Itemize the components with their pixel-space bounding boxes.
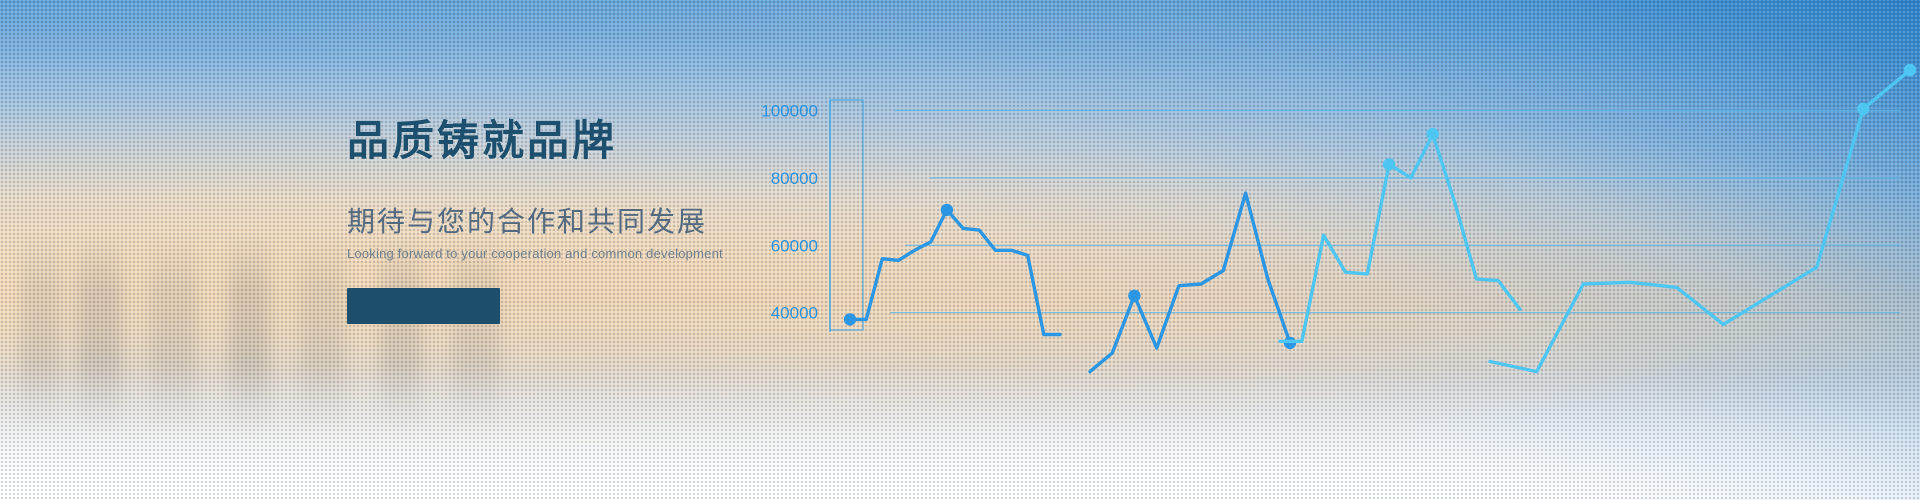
chart-line-series-3: [1280, 134, 1520, 341]
chart-data-point: [1427, 128, 1439, 140]
chart-data-point: [1904, 64, 1916, 76]
chart-line-series-4: [1490, 70, 1910, 372]
banner-line-chart: 400006000080000100000: [760, 60, 1920, 380]
chart-data-point: [941, 204, 953, 216]
chart-data-point: [844, 313, 856, 325]
chart-line-series-2: [1090, 193, 1290, 372]
chart-data-point: [1128, 290, 1140, 302]
chart-y-axis-labels: 400006000080000100000: [761, 102, 818, 323]
chart-axis: [830, 100, 863, 332]
line-chart-svg: 400006000080000100000: [760, 60, 1920, 380]
chart-line-series-1: [850, 210, 1060, 335]
chart-gridlines: [890, 111, 1900, 313]
banner-cta-button[interactable]: [347, 288, 500, 324]
chart-data-point: [1383, 158, 1395, 170]
hero-banner: 品质铸就品牌 期待与您的合作和共同发展 Looking forward to y…: [0, 0, 1920, 500]
y-axis-tick-label: 100000: [761, 102, 818, 121]
y-axis-tick-label: 40000: [771, 304, 818, 323]
y-axis-tick-label: 80000: [771, 169, 818, 188]
chart-data-point: [1857, 103, 1869, 115]
axis-frame: [830, 100, 863, 330]
y-axis-tick-label: 60000: [771, 236, 818, 255]
